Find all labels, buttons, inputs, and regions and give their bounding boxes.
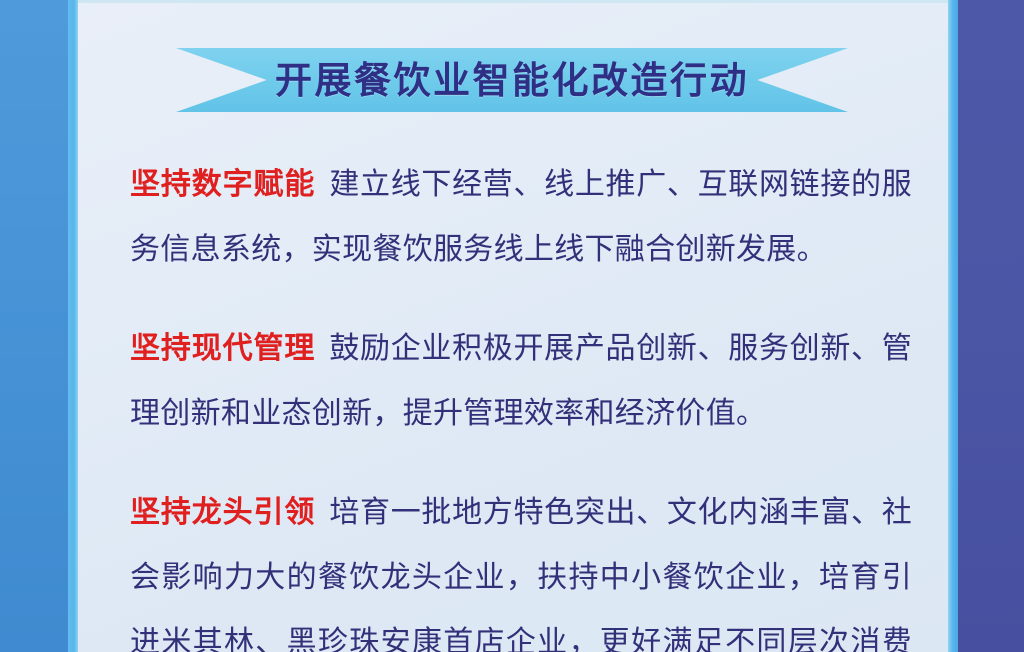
banner-ribbon: 开展餐饮业智能化改造行动 bbox=[176, 48, 848, 112]
right-cyan-stripe bbox=[948, 0, 958, 652]
paragraph-1-lead: 坚持数字赋能 bbox=[130, 168, 315, 201]
top-hairline bbox=[78, 0, 948, 3]
paragraph-2-lead: 坚持现代管理 bbox=[130, 332, 315, 365]
paragraph-3-lead: 坚持龙头引领 bbox=[130, 496, 315, 529]
left-cyan-stripe bbox=[68, 0, 78, 652]
poster-canvas: 开展餐饮业智能化改造行动 坚持数字赋能建立线下经营、线上推广、互联网链接的服务信… bbox=[0, 0, 1024, 652]
banner-title: 开展餐饮业智能化改造行动 bbox=[275, 62, 749, 99]
paragraph-1: 坚持数字赋能建立线下经营、线上推广、互联网链接的服务信息系统，实现餐饮服务线上线… bbox=[130, 152, 912, 282]
body-content: 坚持数字赋能建立线下经营、线上推广、互联网链接的服务信息系统，实现餐饮服务线上线… bbox=[130, 152, 912, 652]
paragraph-2: 坚持现代管理鼓励企业积极开展产品创新、服务创新、管理创新和业态创新，提升管理效率… bbox=[130, 316, 912, 446]
right-indigo-band bbox=[958, 0, 1024, 652]
paragraph-3: 坚持龙头引领培育一批地方特色突出、文化内涵丰富、社会影响力大的餐饮龙头企业，扶持… bbox=[130, 480, 912, 652]
left-blue-band bbox=[0, 0, 68, 652]
